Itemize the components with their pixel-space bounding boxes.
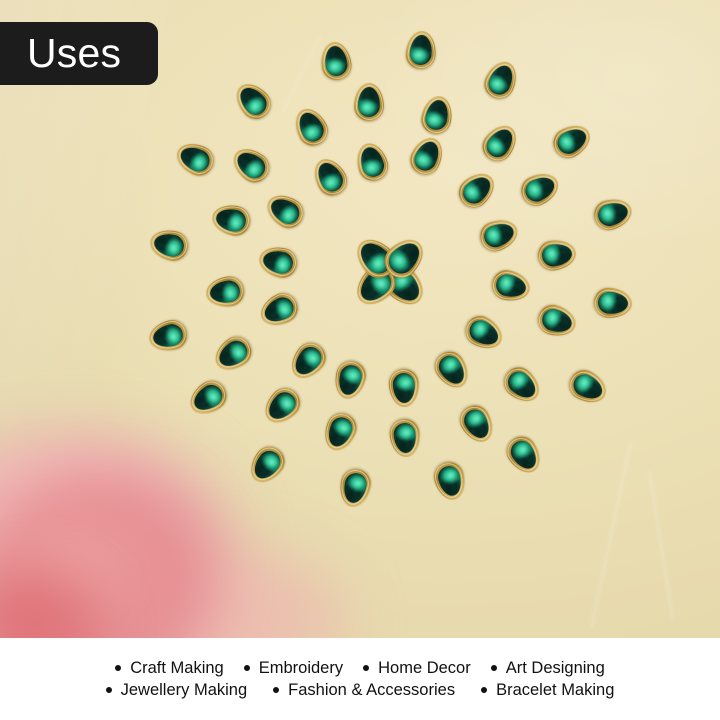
gemstone-facet xyxy=(484,62,516,98)
bullet-dot-icon xyxy=(244,665,250,671)
gemstone xyxy=(353,140,393,185)
uses-row-2: Jewellery MakingFashion & AccessoriesBra… xyxy=(106,682,615,699)
gemstone xyxy=(336,467,373,510)
gemstone-facet xyxy=(336,363,364,397)
uses-badge: Uses xyxy=(0,22,158,85)
bullet-dot-icon xyxy=(115,665,121,671)
gemstone-facet xyxy=(434,352,469,389)
gemstone-facet xyxy=(411,138,444,175)
gemstone-facet xyxy=(409,34,433,66)
gemstone-facet xyxy=(152,231,186,259)
gemstone xyxy=(497,362,545,409)
gemstone-facet xyxy=(481,219,517,250)
gemstone-facet xyxy=(597,291,628,315)
gemstone xyxy=(476,214,522,255)
gemstone-facet xyxy=(503,367,540,403)
gemstone-facet xyxy=(295,109,328,146)
gemstone xyxy=(419,93,456,136)
bullet-dot-icon xyxy=(363,665,369,671)
uses-row-1: Craft MakingEmbroideryHome DecorArt Desi… xyxy=(115,660,605,677)
gemstone-facet xyxy=(209,279,242,305)
product-image-card: Uses Craft MakingEmbroideryHome DecorArt… xyxy=(0,0,720,720)
gemstone-facet xyxy=(176,143,212,175)
gemstone-facet xyxy=(494,272,528,300)
gemstone-facet xyxy=(595,199,630,228)
use-item: Home Decor xyxy=(363,660,471,677)
gemstone-facet xyxy=(465,316,502,350)
use-item: Embroidery xyxy=(244,660,343,677)
use-item-label: Fashion & Accessories xyxy=(288,682,455,699)
gemstone-facet xyxy=(569,370,606,403)
gemstone-facet xyxy=(539,306,574,335)
gemstone xyxy=(452,166,500,214)
gemstone xyxy=(227,142,275,189)
gemstone xyxy=(479,56,522,103)
product-photo xyxy=(0,0,720,638)
use-item-label: Jewellery Making xyxy=(121,682,248,699)
gemstone xyxy=(209,330,257,376)
gemstone-facet xyxy=(264,388,301,425)
gemstone xyxy=(353,82,383,120)
use-item-label: Home Decor xyxy=(378,660,471,677)
use-item: Craft Making xyxy=(115,660,224,677)
gemstone xyxy=(261,189,309,234)
gemstone-facet xyxy=(357,87,379,117)
gemstone xyxy=(255,288,302,332)
gemstone xyxy=(256,243,300,280)
gemstone-facet xyxy=(323,44,349,77)
gemstone xyxy=(454,400,499,448)
gemstone-facet xyxy=(553,124,590,158)
gemstone-facet xyxy=(423,98,450,132)
gemstone-facet xyxy=(358,145,388,180)
gemstone-facet xyxy=(260,293,297,326)
gemstone-facet xyxy=(189,381,226,416)
gemstone-facet xyxy=(235,82,271,119)
gemstone xyxy=(593,287,633,319)
bullet-dot-icon xyxy=(106,687,112,693)
bullet-dot-icon xyxy=(491,665,497,671)
gemstone xyxy=(516,168,563,211)
gemstone-facet xyxy=(540,243,573,269)
gemstone xyxy=(204,274,246,309)
gemstone xyxy=(564,365,612,409)
gemstone xyxy=(229,77,277,125)
gemstone xyxy=(536,238,578,273)
gemstone xyxy=(388,368,420,407)
gemstone-facet xyxy=(261,248,295,276)
gemstone xyxy=(429,346,475,394)
gemstone-facet xyxy=(233,148,270,183)
uses-footer: Craft MakingEmbroideryHome DecorArt Desi… xyxy=(0,638,720,720)
use-item-label: Bracelet Making xyxy=(496,682,614,699)
gemstone xyxy=(183,375,231,421)
gemstone-facet xyxy=(458,172,495,208)
gemstone-facet xyxy=(324,414,356,450)
gemstone-facet xyxy=(214,206,248,233)
use-item-label: Embroidery xyxy=(259,660,343,677)
gemstone xyxy=(501,431,547,479)
bullet-dot-icon xyxy=(481,687,487,693)
gemstone-facet xyxy=(483,124,519,161)
stone-mandala xyxy=(0,0,720,638)
use-item: Fashion & Accessories xyxy=(273,682,455,699)
gemstone-facet xyxy=(436,464,465,499)
use-item: Bracelet Making xyxy=(481,682,614,699)
gemstone xyxy=(308,153,353,201)
gemstone-facet xyxy=(383,237,425,279)
gemstone-facet xyxy=(313,158,347,195)
gemstone-facet xyxy=(392,372,415,403)
gemstone xyxy=(331,358,369,402)
gemstone-facet xyxy=(393,422,418,454)
gemstone xyxy=(284,336,331,384)
gemstone-facet xyxy=(151,322,185,350)
gemstone-facet xyxy=(521,173,558,206)
gemstone xyxy=(489,268,533,306)
gemstone xyxy=(289,104,333,151)
gemstone xyxy=(243,441,290,489)
gemstone-facet xyxy=(460,406,494,443)
gemstone-facet xyxy=(290,342,326,379)
gemstone xyxy=(146,317,190,355)
uses-badge-label: Uses xyxy=(27,33,121,74)
gemstone xyxy=(258,382,306,430)
use-item: Art Designing xyxy=(491,660,605,677)
use-item: Jewellery Making xyxy=(106,682,248,699)
gemstone xyxy=(535,301,580,340)
gemstone xyxy=(389,418,423,459)
gemstone-facet xyxy=(215,336,252,371)
gemstone xyxy=(460,311,508,355)
gemstone xyxy=(590,194,635,233)
gemstone xyxy=(318,40,353,82)
gemstone xyxy=(171,138,218,181)
gemstone-facet xyxy=(341,471,368,505)
gemstone xyxy=(209,202,252,239)
gemstone xyxy=(431,459,470,503)
gemstone-facet xyxy=(267,194,304,228)
gemstone xyxy=(319,409,361,455)
gemstone xyxy=(405,30,438,70)
gemstone-facet xyxy=(507,437,542,474)
use-item-label: Craft Making xyxy=(130,660,224,677)
gemstone xyxy=(148,226,192,264)
gemstone-facet xyxy=(249,447,285,484)
gemstone xyxy=(477,119,524,167)
gemstone xyxy=(406,133,449,180)
bullet-dot-icon xyxy=(273,687,279,693)
use-item-label: Art Designing xyxy=(506,660,605,677)
gemstone xyxy=(548,119,596,164)
